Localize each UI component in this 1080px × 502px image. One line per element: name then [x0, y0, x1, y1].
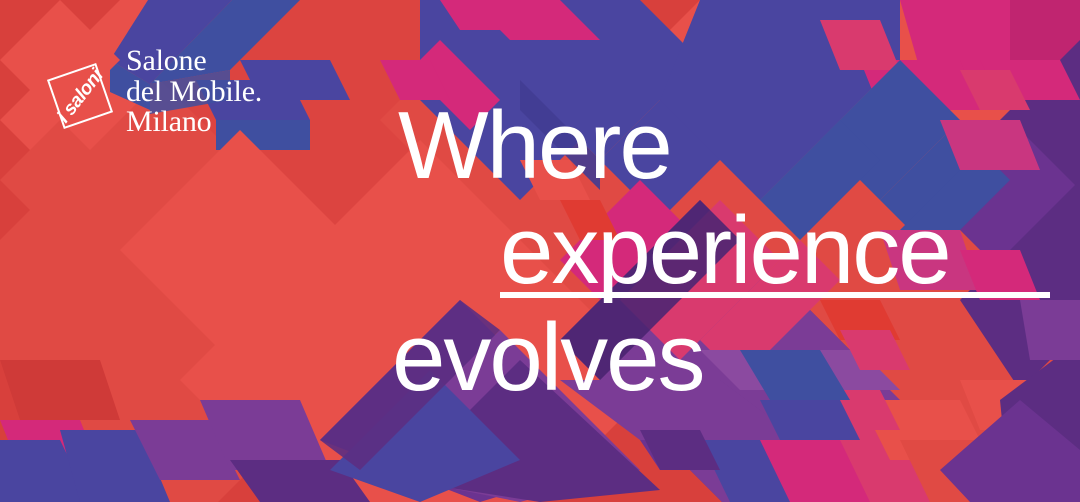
wordmark-line-2: del Mobile. [126, 77, 262, 108]
salone-del-mobile-logo[interactable]: i saloni Salone del Mobile. Milano [48, 44, 262, 138]
isaloni-wordmark-text: i saloni [35, 51, 125, 141]
salone-del-mobile-banner: i saloni Salone del Mobile. Milano Where… [0, 0, 1080, 502]
salone-wordmark: Salone del Mobile. Milano [126, 44, 262, 138]
wordmark-line-3: Milano [126, 107, 262, 138]
wordmark-line-1: Salone [126, 46, 262, 77]
isaloni-logo-mark: i saloni [48, 64, 112, 128]
